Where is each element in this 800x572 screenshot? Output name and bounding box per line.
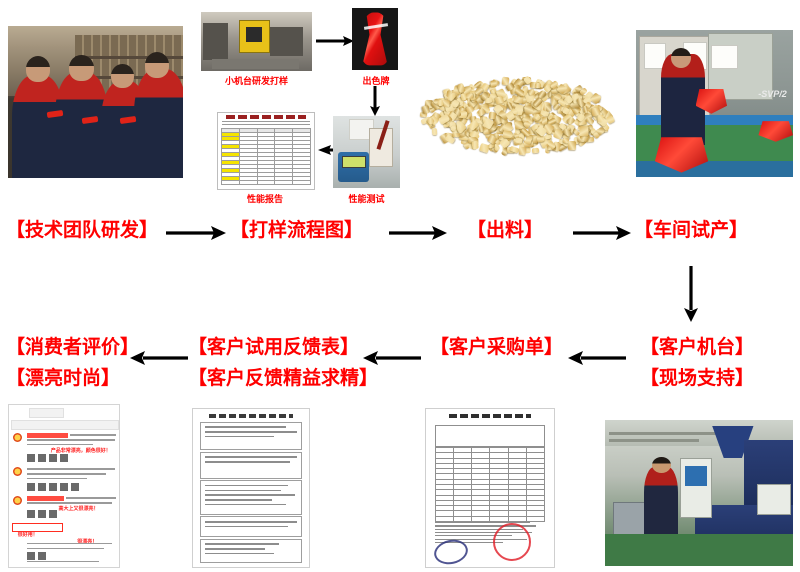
step-purchase-order-label: 【客户采购单】	[430, 336, 563, 360]
review-text-line	[27, 444, 93, 446]
overhead-pipe	[609, 439, 699, 442]
step-customer-machine-line1: 【客户机台】	[640, 336, 754, 360]
caption-performance-test: 性能测试	[333, 192, 400, 205]
team-member-head	[26, 56, 51, 82]
customer-machine-photo	[605, 420, 793, 566]
pellet	[568, 141, 577, 150]
step-trial-production-label: 【车间试产】	[634, 219, 748, 243]
lab-machine-photo	[201, 12, 312, 71]
form-text-line	[205, 526, 289, 528]
review-avatar	[13, 496, 22, 505]
form-text-line	[205, 431, 298, 433]
step-customer-feedback-line2: 【客户反馈精益求精】	[188, 367, 378, 391]
form-text-line	[205, 548, 265, 550]
review-thumbnail	[38, 510, 46, 518]
form-text-line	[205, 553, 275, 555]
team-member-head	[145, 52, 170, 78]
form-text-line	[205, 499, 272, 501]
review-thumbnail	[38, 483, 46, 491]
pellet	[488, 111, 496, 119]
review-thumbnail	[49, 510, 57, 518]
review-thumbnail	[49, 454, 57, 462]
step-customer-machine-label: 【客户机台】 【现场支持】	[640, 336, 754, 391]
pellet	[421, 105, 429, 114]
team-member-head	[111, 64, 134, 88]
review-thumbnail	[60, 454, 68, 462]
step-output-label: 【出料】	[467, 219, 543, 243]
step-customer-feedback-label: 【客户试用反馈表】 【客户反馈精益求精】	[188, 336, 378, 391]
form-text-line	[205, 543, 279, 545]
form-text-line	[205, 461, 291, 463]
arrow-rd-to-sampling	[166, 225, 226, 241]
form-text-line	[205, 436, 275, 438]
machine-frame	[203, 23, 227, 61]
red-chip-shape	[361, 12, 389, 65]
review-text-line	[27, 502, 113, 504]
pellet	[542, 117, 547, 125]
team-member	[134, 69, 183, 178]
report-sheet-photo	[217, 112, 315, 190]
caption-performance-report: 性能报告	[217, 192, 313, 205]
overhead-pipe	[609, 432, 722, 435]
review-text-line	[70, 434, 116, 436]
form-text-line	[205, 426, 286, 428]
review-text-line	[27, 439, 115, 441]
review-text-line	[27, 561, 100, 563]
machine-body	[270, 27, 303, 55]
support-engineer-head	[652, 457, 671, 473]
review-highlight	[27, 433, 69, 438]
review-text-line	[66, 497, 116, 499]
machine-label: -SVP/2	[758, 89, 787, 99]
pellet	[432, 128, 438, 135]
form-text-line	[205, 490, 282, 492]
review-avatar	[13, 467, 22, 476]
review-thumbnail	[71, 483, 79, 491]
pellet	[471, 140, 479, 149]
caption-lab-machine: 小机台研发打样	[201, 74, 312, 87]
step-customer-feedback-line1: 【客户试用反馈表】	[188, 336, 378, 360]
review-toolbar	[11, 420, 119, 430]
arrow-output-to-trial	[573, 225, 631, 241]
secondary-panel	[757, 484, 791, 515]
pellet	[518, 146, 527, 156]
pellets-photo	[415, 62, 620, 182]
pellet	[503, 131, 512, 138]
report-subheader	[222, 121, 310, 127]
review-thumbnail	[27, 483, 35, 491]
form-text-line	[205, 485, 289, 487]
pellet	[494, 144, 499, 151]
review-text-line	[27, 478, 88, 480]
arrow-sampling-to-output	[389, 225, 447, 241]
step-consumer-review-label: 【消费者评价】 【漂亮时尚】	[6, 336, 139, 391]
purchase-order-document	[425, 408, 555, 568]
consumer-review-screenshot: 产品非常漂亮，颜色很好！ 高大上又很漂亮！ 很好用！ 很漂亮！	[8, 404, 120, 568]
machine-base	[212, 59, 299, 68]
posted-note	[711, 45, 738, 69]
pellet	[514, 96, 524, 103]
pellet	[546, 105, 551, 112]
step-customer-machine-line2: 【现场支持】	[640, 367, 754, 391]
color-chip-photo	[352, 8, 398, 70]
arrow-chip-down	[368, 86, 382, 116]
company-seal-stamp	[493, 523, 531, 561]
review-avatar	[13, 433, 22, 442]
report-table	[221, 128, 311, 185]
step-sampling-flow-label: 【打样流程图】	[230, 219, 363, 243]
arrow-machine-to-order	[568, 350, 626, 366]
team-member	[55, 72, 108, 178]
step-consumer-review-line1: 【消费者评价】	[6, 336, 139, 360]
inspector-head	[671, 48, 691, 69]
down-arrow-trial-to-customer	[682, 266, 700, 322]
form-text-line	[205, 504, 286, 506]
pellet	[490, 80, 497, 88]
po-line-items-table	[435, 447, 545, 522]
pellet	[515, 137, 522, 143]
pellet	[579, 126, 588, 136]
review-text-line	[27, 468, 115, 470]
team-member-head	[69, 55, 94, 81]
pellet	[582, 106, 588, 113]
factory-floor	[605, 534, 793, 566]
review-text-line	[27, 548, 104, 550]
review-thumbnail	[60, 483, 68, 491]
test-instrument-photo	[333, 116, 400, 188]
form-text-line	[205, 456, 298, 458]
arrow-feedback-to-consumer	[130, 350, 188, 366]
arrow-machine-to-chip	[316, 34, 354, 48]
step-rd-label: 【技术团队研发】	[6, 219, 158, 243]
pellet	[532, 148, 540, 154]
step-consumer-review-line2: 【漂亮时尚】	[6, 367, 139, 391]
review-header-bar	[29, 408, 64, 418]
review-thumbnail	[38, 552, 46, 560]
workshop-inspection-photo: -SVP/2	[636, 30, 793, 177]
po-title-line	[449, 414, 531, 418]
form-text-line	[205, 494, 295, 496]
arrow-order-to-feedback	[363, 350, 421, 366]
machine-control-panel	[680, 458, 712, 518]
review-annotation: 高大上又很漂亮！	[59, 505, 99, 512]
review-text-line	[27, 543, 113, 545]
review-text-line	[27, 473, 106, 475]
machine-yellow-panel	[239, 20, 270, 53]
rd-team-photo	[8, 26, 183, 178]
pellet	[535, 83, 541, 88]
pellet	[466, 93, 473, 98]
po-header-block	[435, 425, 545, 448]
review-annotation: 很好用！	[18, 531, 38, 538]
pellet	[597, 115, 604, 122]
feedback-form-document	[192, 408, 310, 568]
review-highlight	[27, 496, 64, 501]
report-title-line	[226, 115, 307, 119]
form-title-line	[209, 414, 293, 418]
review-thumbnail	[49, 483, 57, 491]
review-thumbnail	[27, 454, 35, 462]
test-device-screen	[342, 156, 365, 168]
pellet	[456, 121, 461, 131]
review-thumbnail	[38, 454, 46, 462]
review-thumbnail	[27, 510, 35, 518]
form-text-line	[205, 521, 298, 523]
pellet-pile	[415, 62, 620, 182]
review-thumbnail	[27, 552, 35, 560]
form-section	[200, 539, 302, 563]
